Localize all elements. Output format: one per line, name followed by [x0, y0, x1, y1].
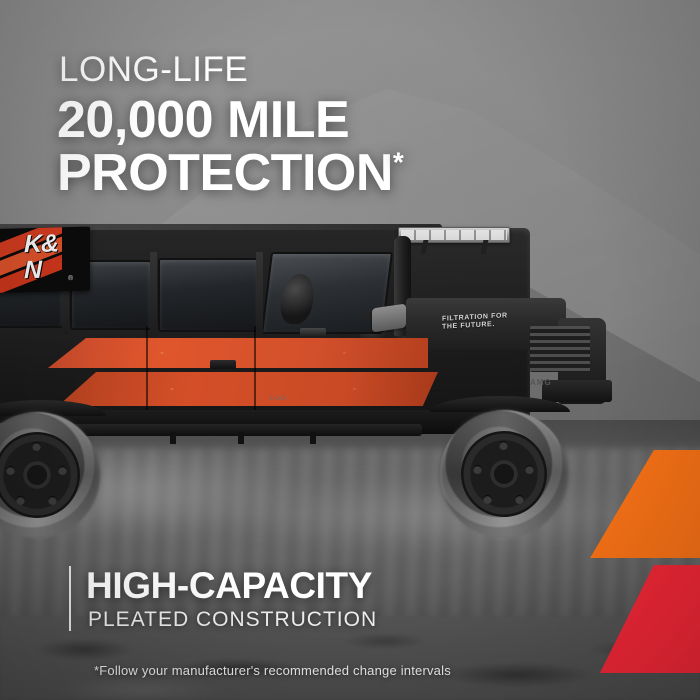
body-stripe-upper	[48, 338, 428, 368]
side-mirror-icon	[372, 304, 406, 333]
grille	[530, 326, 590, 372]
a-pillar	[256, 252, 263, 334]
kn-logo-line1: K&	[24, 230, 58, 257]
headline-line1: 20,000 MILE	[57, 94, 617, 147]
step-leg-3	[310, 432, 316, 444]
kn-logo-text: K& N	[24, 230, 58, 283]
door-seam-rear	[146, 326, 148, 414]
kn-registered-mark: ®	[68, 275, 73, 282]
vehicle-suv: FILTRATION FOR THE FUTURE. LUG AMG	[0, 210, 670, 540]
lug-nut	[16, 496, 25, 505]
rim-front	[461, 431, 547, 517]
disclaimer-text: *Follow your manufacturer's recommended …	[94, 663, 451, 678]
lug-nut	[483, 495, 492, 504]
badge-lug: LUG	[270, 396, 287, 402]
c-pillar	[150, 252, 157, 334]
vertical-accent-rule	[69, 566, 71, 631]
headline-block: LONG-LIFE 20,000 MILE PROTECTION*	[57, 50, 617, 200]
step-leg-2	[238, 432, 244, 444]
door-seam-front	[254, 326, 256, 414]
front-bumper	[542, 380, 612, 402]
door-handle-rear	[210, 360, 236, 369]
step-leg-1	[170, 432, 176, 444]
lower-title: HIGH-CAPACITY	[86, 566, 377, 606]
lug-nut	[499, 441, 508, 450]
light-bar-segments	[401, 230, 507, 240]
lug-nut	[58, 466, 67, 475]
door-handle-front	[300, 328, 326, 337]
occupant-front	[278, 274, 316, 324]
stripe-topo-pattern-lower	[58, 372, 438, 406]
kn-logo-line2: N	[24, 256, 58, 283]
lug-nut	[48, 496, 57, 505]
lug-nut	[515, 495, 524, 504]
light-bar-icon	[398, 227, 510, 243]
kn-logo-badge: K& N ®	[0, 227, 90, 294]
headline-line2: PROTECTION*	[57, 147, 617, 200]
headline-kicker: LONG-LIFE	[59, 50, 617, 90]
lug-nut	[473, 465, 482, 474]
lug-nut	[32, 442, 41, 451]
lower-subtitle: PLEATED CONSTRUCTION	[88, 607, 377, 633]
body-stripe-lower	[58, 372, 438, 406]
lug-nut	[525, 465, 534, 474]
advertisement-poster: FILTRATION FOR THE FUTURE. LUG AMG	[0, 0, 700, 700]
headline-line2-text: PROTECTION	[57, 144, 393, 202]
lug-nut	[6, 466, 15, 475]
window-front	[158, 258, 260, 332]
lower-text-block: HIGH-CAPACITY PLEATED CONSTRUCTION	[69, 566, 377, 633]
badge-amg: AMG	[530, 378, 552, 387]
stripe-topo-pattern-upper	[48, 338, 428, 368]
headline-asterisk: *	[393, 147, 403, 178]
